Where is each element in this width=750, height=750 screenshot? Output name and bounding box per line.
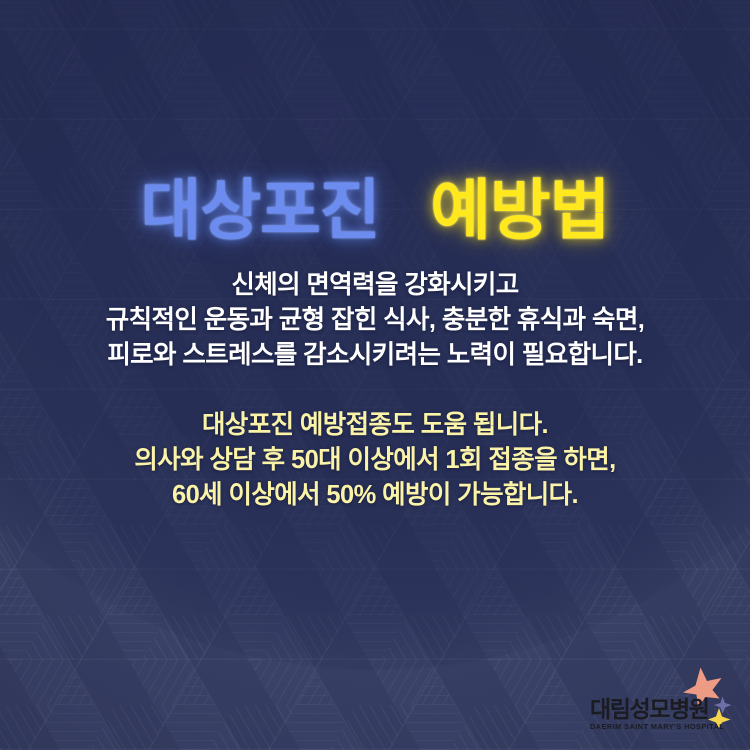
paragraph-advice: 신체의 면역력을 강화시키고 규칙적인 운동과 균형 잡힌 식사, 충분한 휴식… bbox=[0, 268, 750, 373]
paragraph-spacer bbox=[0, 373, 750, 408]
paragraph-vaccination-line: 의사와 상담 후 50대 이상에서 1회 접종을 하면, bbox=[0, 443, 750, 478]
page-title: 대상포진 예방법 bbox=[0, 175, 750, 246]
page-title-secondary: 예방법 bbox=[430, 173, 609, 247]
paragraph-advice-line: 규칙적인 운동과 균형 잡힌 식사, 충분한 휴식과 숙면, bbox=[0, 303, 750, 338]
paragraph-advice-line: 피로와 스트레스를 감소시키려는 노력이 필요합니다. bbox=[0, 338, 750, 373]
logo-name-english: DAERIM SAINT MARY'S HOSPITAL bbox=[590, 722, 707, 732]
page-title-primary: 대상포진 bbox=[141, 173, 380, 247]
logo-text-block: 대림성모병원 DAERIM SAINT MARY'S HOSPITAL bbox=[590, 697, 712, 732]
logo-name-korean: 대림성모병원 bbox=[590, 697, 712, 722]
paragraph-vaccination-line: 60세 이상에서 50% 예방이 가능합니다. bbox=[0, 478, 750, 513]
paragraph-vaccination: 대상포진 예방접종도 도움 됩니다. 의사와 상담 후 50대 이상에서 1회 … bbox=[0, 408, 750, 513]
shingles-prevention-card: 대상포진 예방법 신체의 면역력을 강화시키고 규칙적인 운동과 균형 잡힌 식… bbox=[0, 0, 750, 750]
paragraph-vaccination-line: 대상포진 예방접종도 도움 됩니다. bbox=[0, 408, 750, 443]
hospital-logo: 대림성모병원 DAERIM SAINT MARY'S HOSPITAL bbox=[590, 666, 738, 740]
star-purple-icon bbox=[714, 697, 732, 715]
paragraph-advice-line: 신체의 면역력을 강화시키고 bbox=[0, 268, 750, 303]
card-content: 대상포진 예방법 신체의 면역력을 강화시키고 규칙적인 운동과 균형 잡힌 식… bbox=[0, 0, 750, 750]
body-copy: 신체의 면역력을 강화시키고 규칙적인 운동과 균형 잡힌 식사, 충분한 휴식… bbox=[0, 268, 750, 513]
